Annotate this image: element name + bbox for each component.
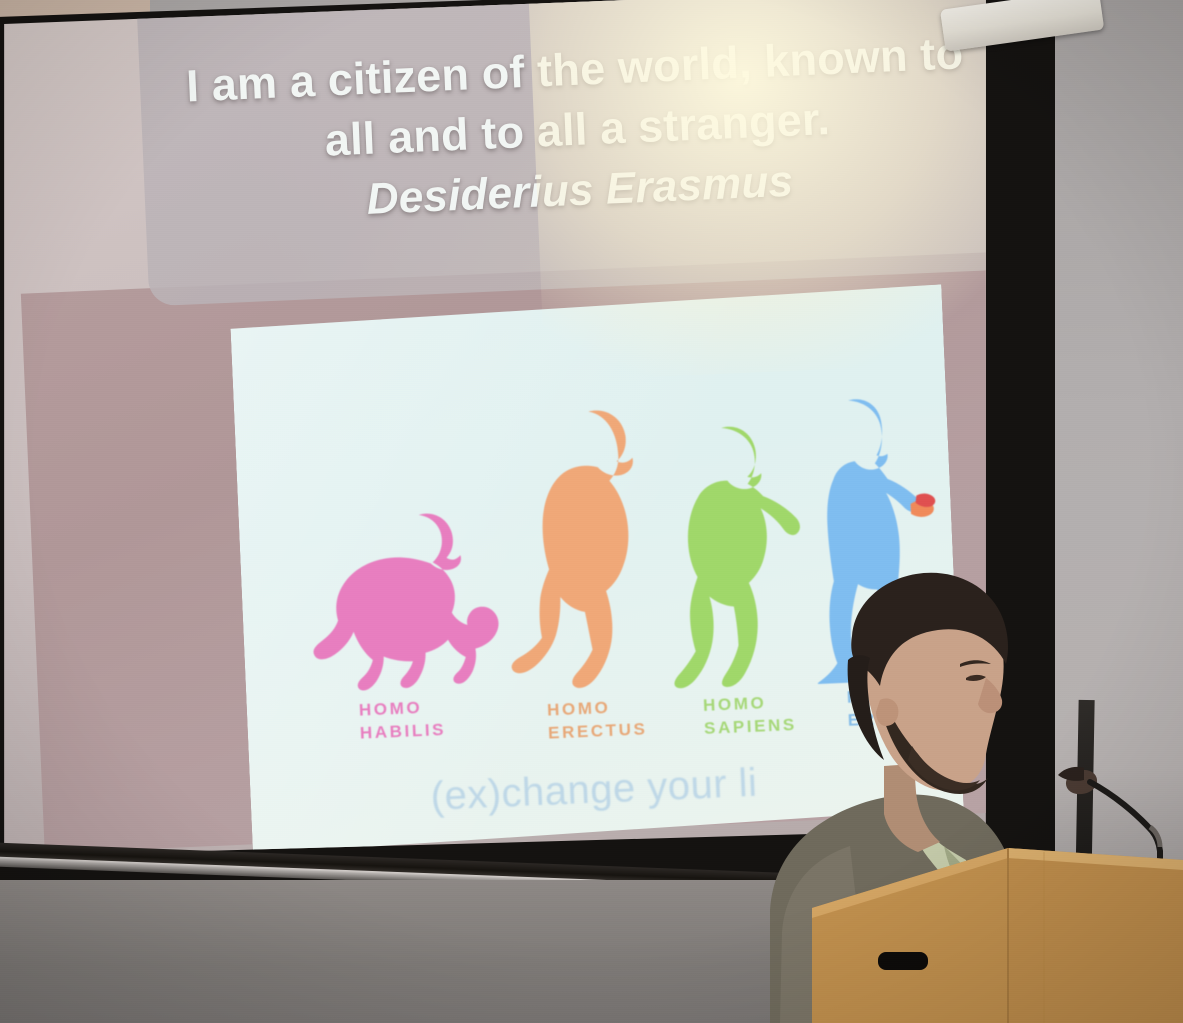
quote-text-block: I am a citizen of the world, known to al…: [179, 23, 976, 237]
figure-homo-habilis: [300, 489, 526, 698]
quote-attribution: Desiderius Erasmus: [184, 145, 976, 237]
podium: [812, 848, 1183, 1023]
podium-handle-slot: [878, 952, 928, 970]
figure-label-homo-erectus: HOMO ERECTUS: [547, 695, 648, 745]
podium-front-panel: [812, 848, 1008, 1023]
podium-side-panel: [1008, 848, 1183, 1023]
figure-label-homo-habilis: HOMO HABILIS: [358, 696, 446, 746]
quote-textbox: I am a citizen of the world, known to al…: [136, 0, 1008, 306]
label-line-2: ERECTUS: [548, 718, 648, 745]
photo-scene: HOMO HABILIS HOMO ERECTUS: [0, 0, 1183, 1023]
figure-homo-erectus: [496, 396, 676, 693]
label-line-2: HABILIS: [359, 719, 446, 746]
